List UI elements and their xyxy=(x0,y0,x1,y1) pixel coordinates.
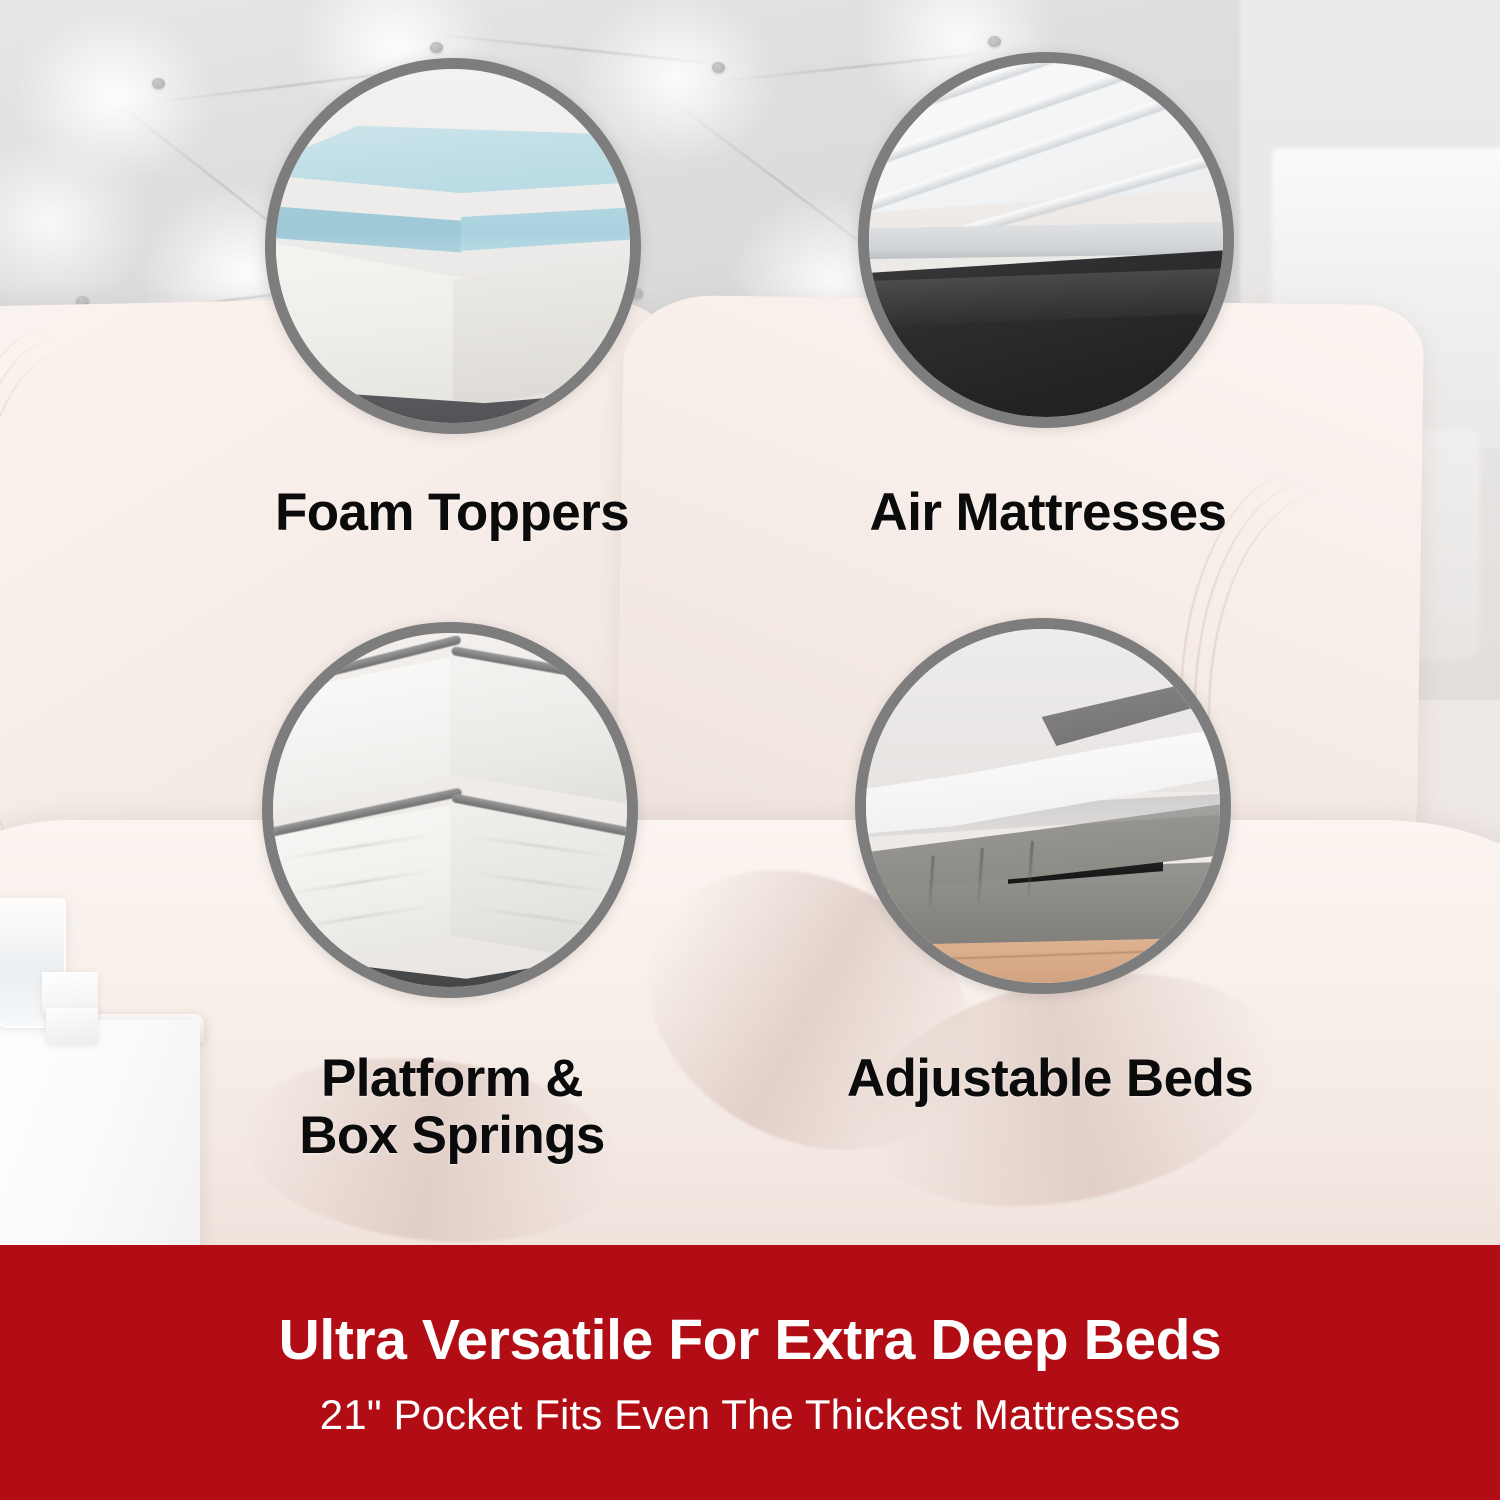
feature-label-platform-box-springs: Platform & Box Springs xyxy=(182,1050,722,1164)
foam-topper-photo xyxy=(276,69,630,423)
nightstand xyxy=(0,1020,200,1245)
product-feature-graphic: Foam Toppers Air Mattresses xyxy=(0,0,1500,1500)
decor-box xyxy=(46,1008,98,1044)
headboard-tuft xyxy=(988,36,1001,47)
promo-banner: Ultra Versatile For Extra Deep Beds 21" … xyxy=(0,1245,1500,1500)
headboard-tuft xyxy=(430,42,443,53)
feature-label-foam-toppers: Foam Toppers xyxy=(182,484,722,541)
adjustable-bed-photo xyxy=(866,629,1220,983)
feature-circle-platform-box-springs xyxy=(262,622,638,998)
feature-label-adjustable-beds: Adjustable Beds xyxy=(770,1050,1330,1107)
air-mattress-photo xyxy=(869,63,1223,417)
feature-circle-foam-toppers xyxy=(265,58,641,434)
headboard-tuft xyxy=(152,78,165,89)
feature-circle-adjustable-beds xyxy=(855,618,1231,994)
banner-title: Ultra Versatile For Extra Deep Beds xyxy=(279,1307,1222,1373)
banner-subtitle: 21" Pocket Fits Even The Thickest Mattre… xyxy=(320,1391,1180,1439)
feature-circle-air-mattresses xyxy=(858,52,1234,428)
box-spring-photo xyxy=(273,633,627,987)
feature-label-air-mattresses: Air Mattresses xyxy=(778,484,1318,541)
